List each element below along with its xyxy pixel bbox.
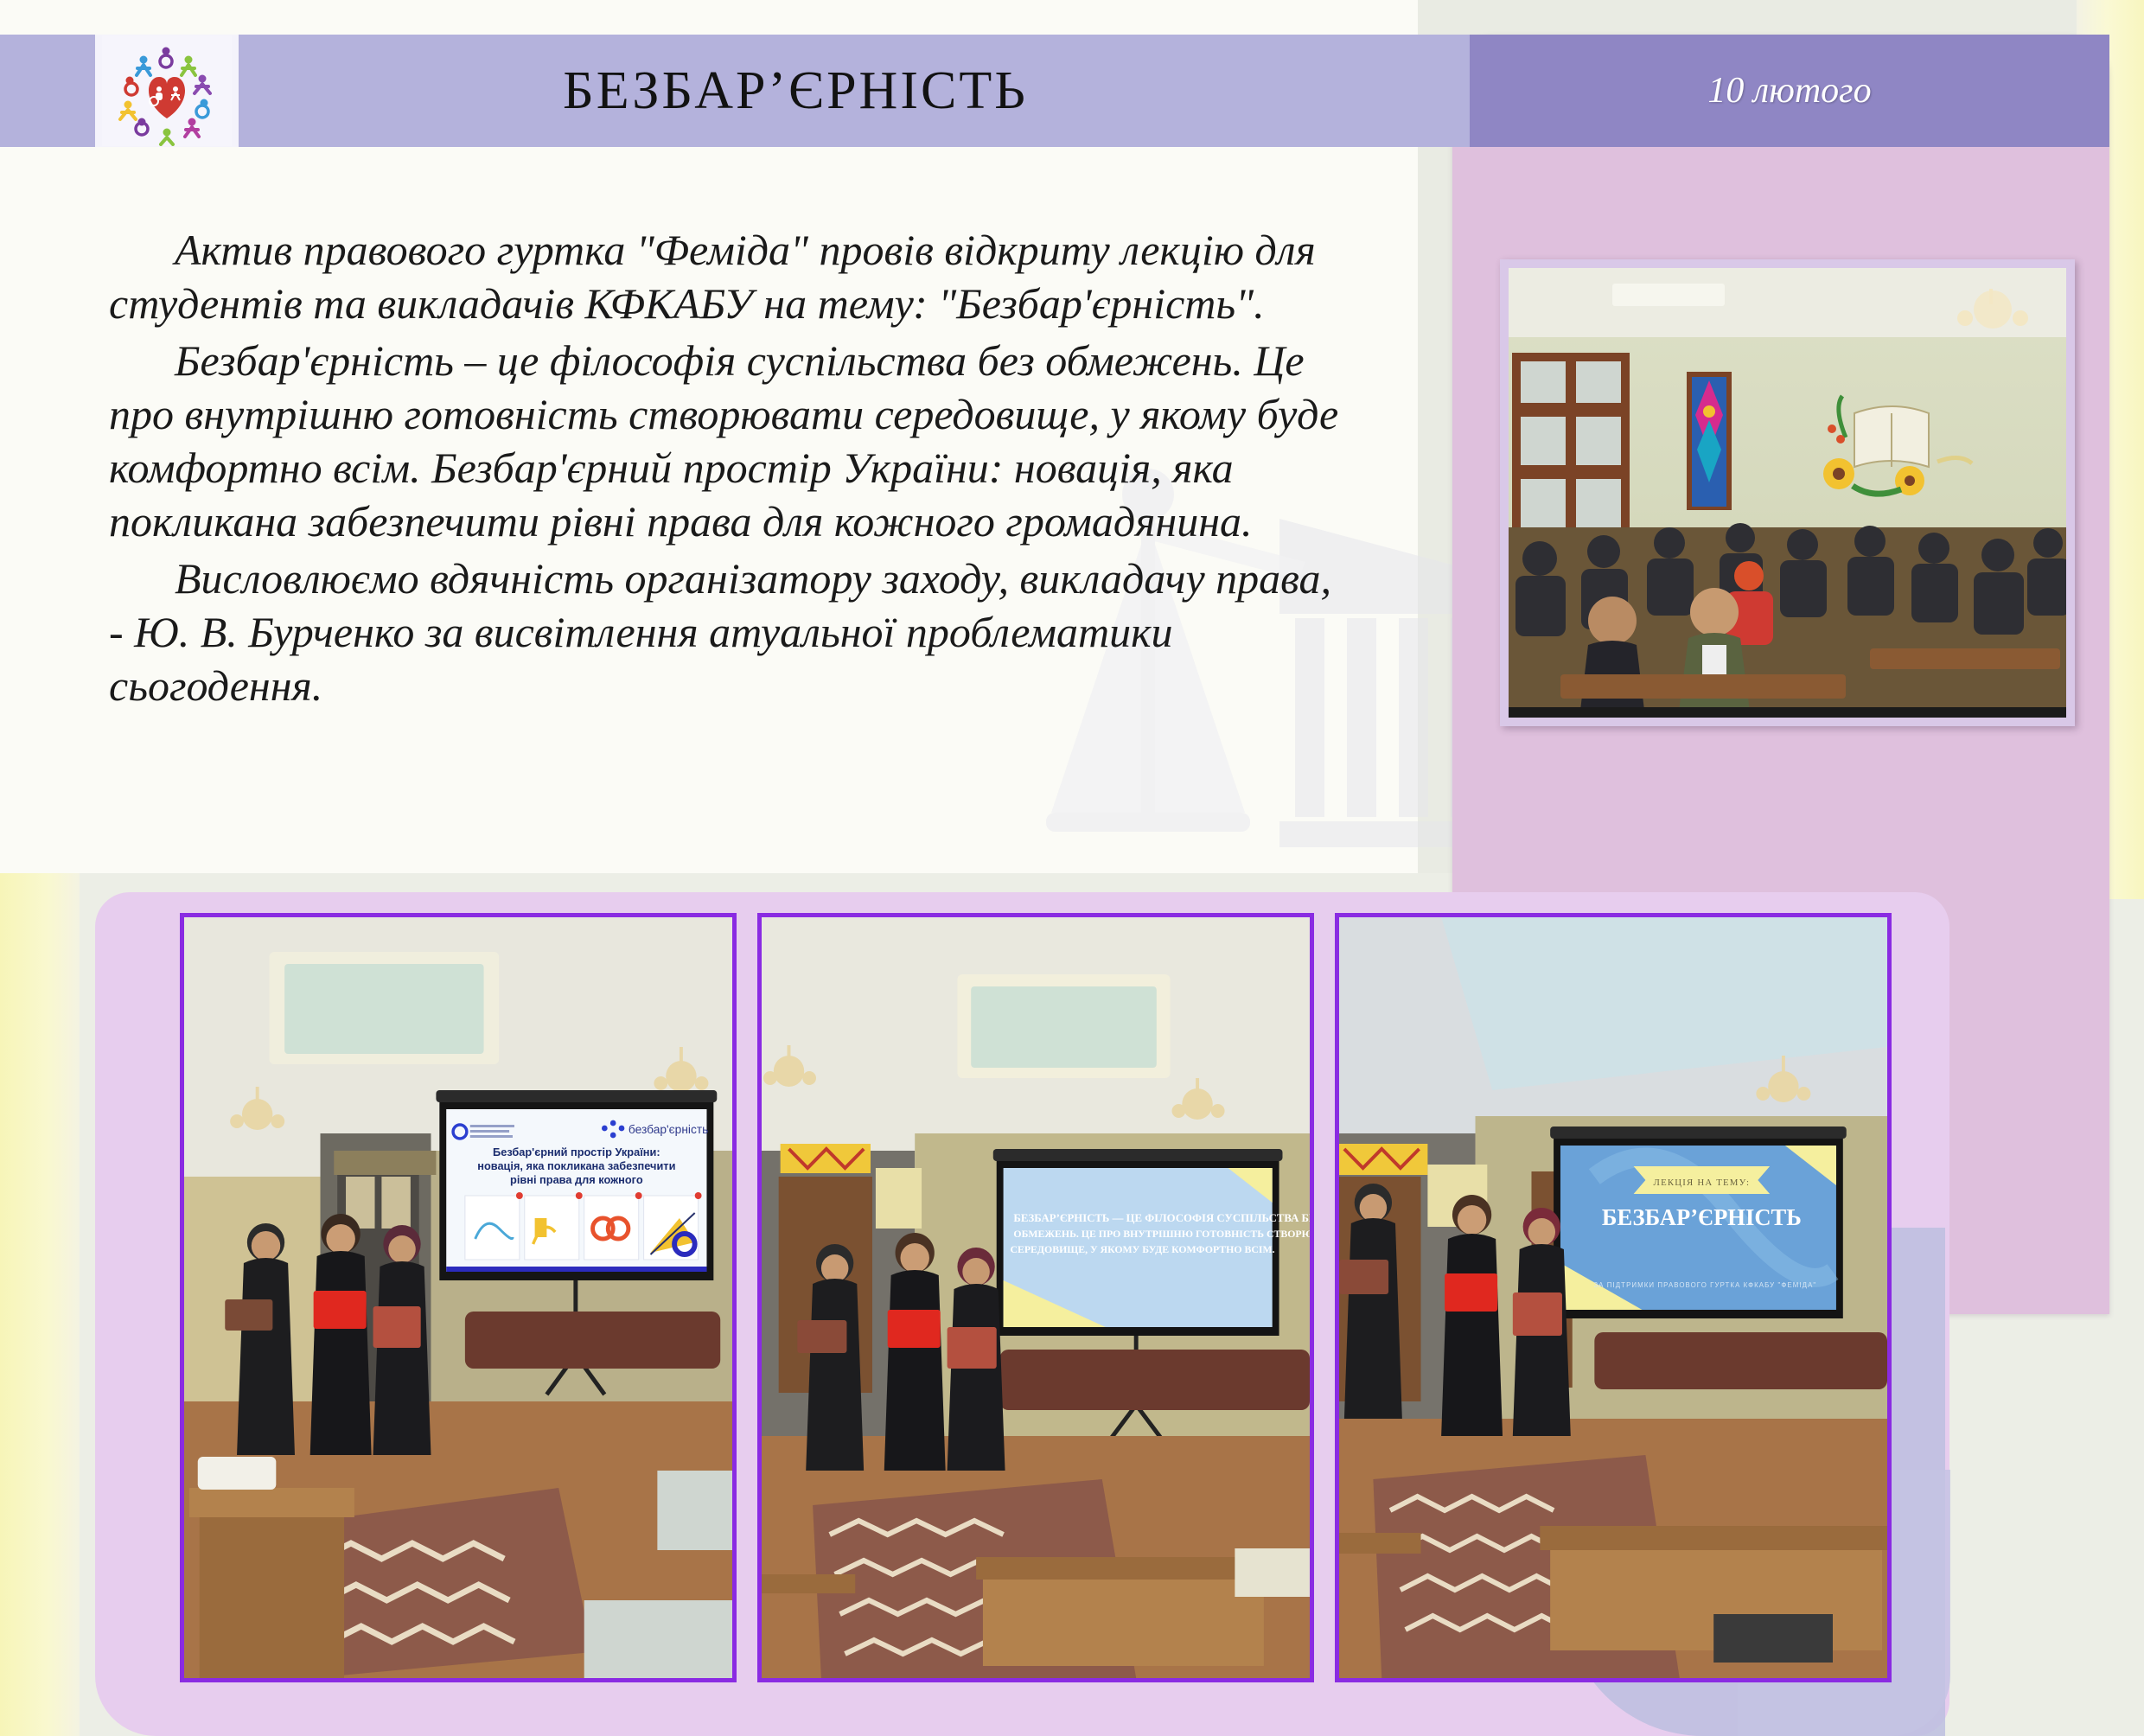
left-yellow-strip [0, 873, 80, 1736]
body-text: Актив правового гуртка "Феміда" провів в… [109, 223, 1354, 716]
photo-presenters-slide-space: безбар'єрність Безбар'єрний простір Укра… [180, 913, 737, 1682]
date-badge: 10 лютого [1470, 35, 2109, 147]
paragraph-1: Актив правового гуртка "Феміда" провів в… [109, 223, 1354, 330]
photo-presenters-slide-definition: БЕЗБАР’ЄРНІСТЬ — ЦЕ ФІЛОСОФІЯ СУСПІЛЬСТВ… [757, 913, 1314, 1682]
paragraph-3: Висловлюємо вдячність організатору заход… [109, 552, 1354, 712]
photo-presenters-title-slide: ЛЕКЦІЯ НА ТЕМУ: БЕЗБАР’ЄРНІСТЬ ЗА ПІДТРИ… [1335, 913, 1892, 1682]
svg-text:ОБМЕЖЕНЬ. ЦЕ ПРО ВНУТРІШНЮ ГОТ: ОБМЕЖЕНЬ. ЦЕ ПРО ВНУТРІШНЮ ГОТОВНІСТЬ СТ… [1013, 1228, 1310, 1240]
page-title: БЕЗБАР’ЄРНІСТЬ [259, 35, 1331, 147]
svg-text:ЗА ПІДТРИМКИ ПРАВОВОГО ГУРТКА: ЗА ПІДТРИМКИ ПРАВОВОГО ГУРТКА КФКАБУ "ФЕ… [1593, 1281, 1816, 1289]
paragraph-2: Безбар'єрність – це філософія суспільств… [109, 334, 1354, 548]
svg-text:новація, яка покликана забезпе: новація, яка покликана забезпечити [477, 1159, 675, 1172]
bottom-photo-row: безбар'єрність Безбар'єрний простір Укра… [180, 913, 1892, 1674]
svg-text:Безбар'єрний простір України:: Безбар'єрний простір України: [493, 1146, 660, 1158]
inclusion-heart-logo [95, 35, 239, 147]
svg-text:СЕРЕДОВИЩЕ, У ЯКОМУ БУДЕ КОМФО: СЕРЕДОВИЩЕ, У ЯКОМУ БУДЕ КОМФОРТНО ВСІМ. [1010, 1243, 1274, 1255]
page-title-text: БЕЗБАР’ЄРНІСТЬ [563, 61, 1028, 122]
svg-text:БЕЗБАР’ЄРНІСТЬ — ЦЕ ФІЛОСОФІЯ: БЕЗБАР’ЄРНІСТЬ — ЦЕ ФІЛОСОФІЯ СУСПІЛЬСТВ… [1013, 1212, 1310, 1224]
audience-photo [1500, 259, 2075, 726]
svg-text:рівні права для кожного: рівні права для кожного [510, 1173, 643, 1186]
svg-text:ЛЕКЦІЯ НА ТЕМУ:: ЛЕКЦІЯ НА ТЕМУ: [1654, 1178, 1751, 1188]
svg-text:безбар'єрність: безбар'єрність [629, 1122, 708, 1136]
svg-text:БЕЗБАР’ЄРНІСТЬ: БЕЗБАР’ЄРНІСТЬ [1602, 1204, 1802, 1230]
date-badge-text: 10 лютого [1707, 70, 1871, 112]
